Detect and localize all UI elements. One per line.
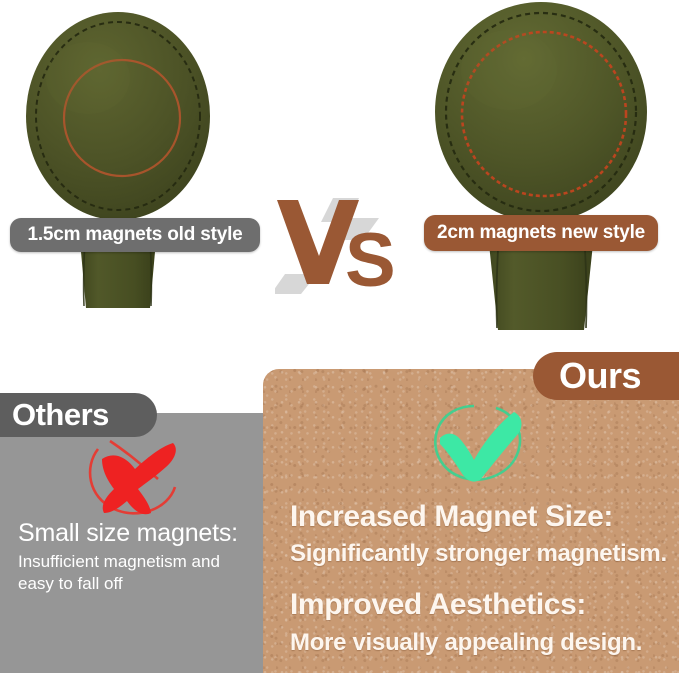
old-style-magnet-clip-photo (18, 8, 218, 313)
ours-point-2-body: More visually appealing design. (290, 629, 642, 657)
svg-text:S: S (345, 218, 395, 296)
ours-badge-label: Ours (559, 355, 641, 397)
red-x-icon (80, 433, 185, 526)
new-style-size-label-text: 2cm magnets new style (437, 222, 645, 244)
green-check-icon (424, 398, 536, 495)
others-badge: Others (0, 393, 157, 437)
old-style-size-label-text: 1.5cm magnets old style (27, 224, 242, 246)
others-heading: Small size magnets: (18, 519, 238, 548)
others-body-text: Insufficient magnetism and easy to fall … (18, 551, 240, 596)
versus-graphic: S (275, 188, 395, 296)
new-style-size-label: 2cm magnets new style (424, 215, 658, 251)
ours-point-1-heading: Increased Magnet Size: (290, 500, 613, 534)
ours-badge: Ours (533, 352, 679, 400)
others-badge-label: Others (12, 397, 109, 433)
ours-point-1-body: Significantly stronger magnetism. (290, 540, 667, 568)
product-comparison-image: 1.5cm magnets old style 2cm magnets new … (0, 0, 679, 673)
new-style-magnet-clip-photo (424, 0, 659, 345)
ours-point-2-heading: Improved Aesthetics: (290, 588, 586, 622)
old-style-size-label: 1.5cm magnets old style (10, 218, 260, 252)
